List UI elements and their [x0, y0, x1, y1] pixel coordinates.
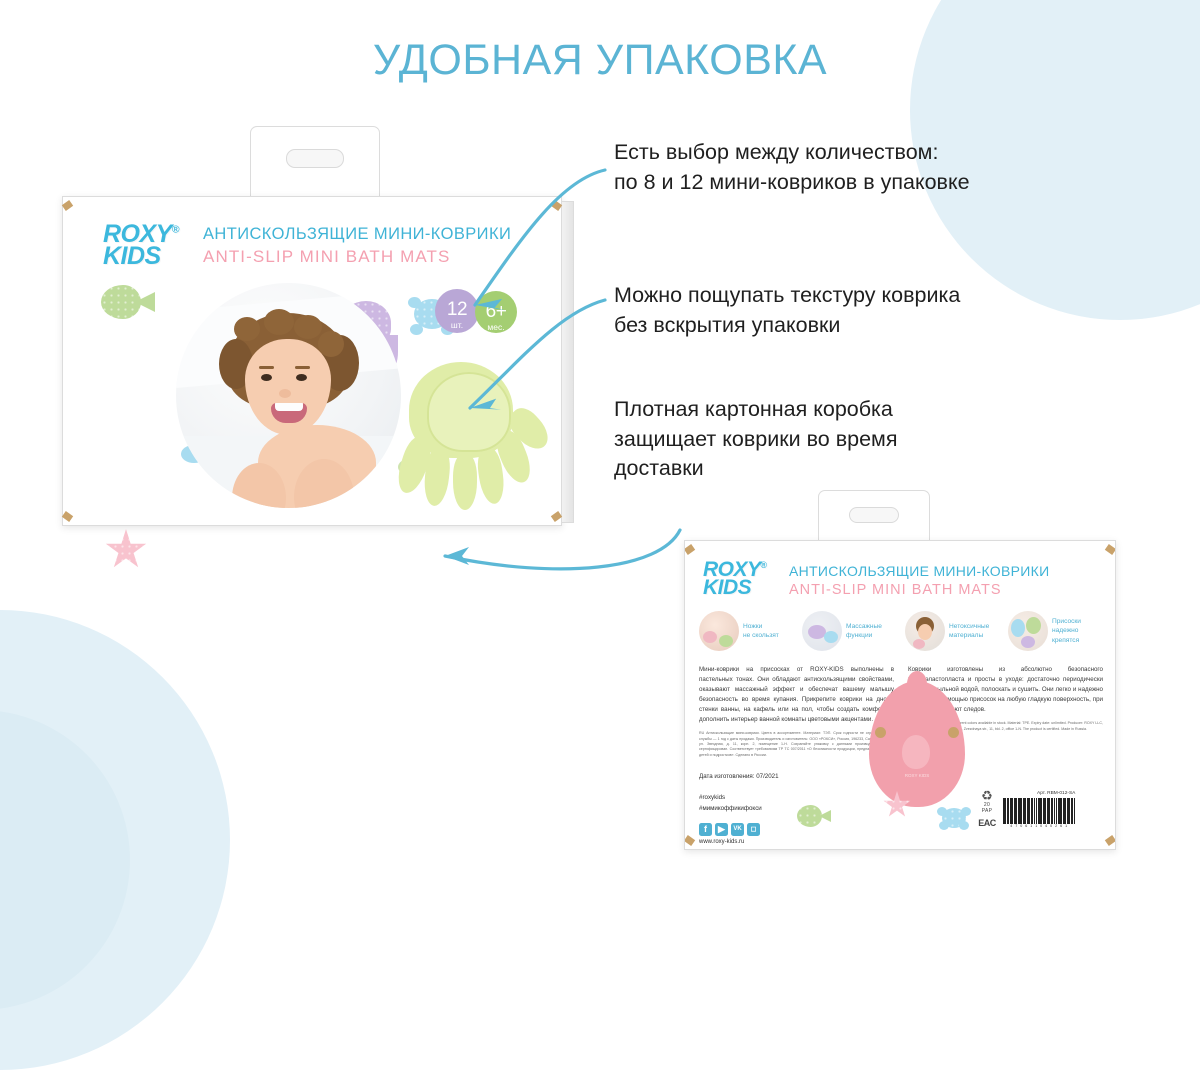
- benefit-1-line-2: по 8 и 12 мини-ковриков в упаковке: [614, 168, 970, 198]
- benefit-2-line-1: Можно пощупать текстуру коврика: [614, 281, 960, 311]
- eac-mark: EAC: [978, 818, 996, 828]
- badge-quantity: 12 шт.: [435, 289, 479, 333]
- feature-item-suction: Присоски надежно крепятся: [1008, 611, 1109, 651]
- barcode-digits: 4 7 0 6 1 1 0 4 0 2 6 1: [1003, 824, 1075, 828]
- feature-photo-mats: [1008, 611, 1048, 651]
- feature-list: Ножки не скользят Массажные функции Нето…: [699, 611, 1109, 651]
- benefit-3-line-3: доставки: [614, 454, 897, 484]
- compliance-marks: ♻ 20 PAP EAC Арт. RBM-012-SA 4 7 0 6 1 1…: [977, 789, 1075, 828]
- product-mat-teardrop-pink: ROXY KIDS: [869, 681, 965, 807]
- baby-eye-right: [296, 374, 307, 381]
- benefit-item-quantity: Есть выбор между количеством: по 8 и 12 …: [614, 138, 970, 197]
- baby-mouth: [271, 403, 307, 423]
- mat-fish-green: [101, 285, 155, 319]
- manufacture-date: Дата изготовления: 07/2021: [699, 773, 779, 780]
- hashtags: #roxykids #мимикоффикифокси: [699, 793, 762, 814]
- feature-4-line-1: Присоски: [1052, 617, 1081, 626]
- badge-age-value: 6+: [475, 291, 517, 321]
- feature-3-line-1: Нетоксичные: [949, 622, 989, 631]
- youtube-icon[interactable]: ▶: [715, 823, 728, 836]
- paragraph-left: Мини-коврики на присосках от ROXY-KIDS в…: [699, 665, 894, 725]
- benefit-3-line-1: Плотная картонная коробка: [614, 395, 897, 425]
- back-package: ROXY® KIDS АНТИСКОЛЬЗЯЩИЕ МИНИ-КОВРИКИ A…: [684, 540, 1116, 850]
- legal-text-ru: RU Антискользящие мини-коврики. Цвета в …: [699, 731, 894, 758]
- badge-quantity-unit: шт.: [435, 321, 479, 330]
- front-headline: АНТИСКОЛЬЗЯЩИЕ МИНИ-КОВРИКИ ANTI-SLIP MI…: [203, 225, 511, 267]
- benefit-item-box: Плотная картонная коробка защищает коври…: [614, 395, 897, 484]
- recycle-mark: ♻ 20 PAP EAC: [977, 789, 997, 828]
- baby-nose: [279, 389, 291, 398]
- feature-1-line-2: не скользят: [743, 631, 779, 640]
- back-description-left: Мини-коврики на присосках от ROXY-KIDS в…: [699, 665, 894, 758]
- instagram-icon[interactable]: ◻: [747, 823, 760, 836]
- feature-2-line-1: Массажные: [846, 622, 882, 631]
- front-brand-line-2: KIDS: [103, 245, 179, 267]
- product-mat-octopus-green: [401, 362, 553, 510]
- back-headline-en: ANTI-SLIP MINI BATH MATS: [789, 582, 1049, 598]
- badge-quantity-value: 12: [435, 289, 479, 319]
- vk-icon[interactable]: VK: [731, 823, 744, 836]
- feature-1-line-1: Ножки: [743, 622, 779, 631]
- back-staple-top-left: [684, 544, 695, 555]
- baby-eye-left: [261, 374, 272, 381]
- barcode-icon: [1003, 798, 1075, 824]
- back-brand-logo: ROXY® KIDS: [703, 561, 767, 598]
- recycle-triangle-icon: ♻: [977, 789, 997, 802]
- website-url: www.roxy-kids.ru: [699, 839, 744, 845]
- badge-age: 6+ мес.: [475, 291, 517, 333]
- back-staple-bottom-left: [684, 835, 695, 846]
- article-number: Арт. RBM-012-SA: [1003, 791, 1075, 796]
- benefit-3-line-2: защищает коврики во время: [614, 425, 897, 455]
- feature-3-line-2: материалы: [949, 631, 989, 640]
- barcode-block: Арт. RBM-012-SA 4 7 0 6 1 1 0 4 0 2 6 1: [1003, 791, 1075, 828]
- benefit-2-line-2: без вскрытия упаковки: [614, 311, 960, 341]
- front-headline-en: ANTI-SLIP MINI BATH MATS: [203, 247, 511, 267]
- hashtag-2: #мимикоффикифокси: [699, 804, 762, 815]
- feature-photo-baby: [905, 611, 945, 651]
- front-package-side-panel: [561, 201, 574, 523]
- front-package-hang-tab: [250, 126, 380, 198]
- baby-figure: [228, 313, 348, 441]
- staple-bottom-left: [62, 511, 73, 522]
- feature-4-line-3: крепятся: [1052, 636, 1081, 645]
- facebook-icon[interactable]: f: [699, 823, 712, 836]
- feature-2-line-2: функции: [846, 631, 882, 640]
- hashtag-1: #roxykids: [699, 793, 762, 804]
- mat-star-pink: [105, 529, 147, 571]
- social-links: f ▶ VK ◻: [699, 823, 760, 836]
- feature-item-nontoxic: Нетоксичные материалы: [905, 611, 1006, 651]
- feature-item-nonslip: Ножки не скользят: [699, 611, 800, 651]
- front-brand-logo: ROXY® KIDS: [103, 223, 179, 267]
- benefit-1-line-1: Есть выбор между количеством:: [614, 138, 970, 168]
- back-brand-line-2: KIDS: [703, 579, 767, 597]
- back-registered-trademark-icon: ®: [761, 560, 767, 570]
- feature-4-line-2: надежно: [1052, 626, 1081, 635]
- feature-photo-feet: [699, 611, 739, 651]
- recycle-label: PAP: [977, 808, 997, 814]
- front-package: ROXY® KIDS АНТИСКОЛЬЗЯЩИЕ МИНИ-КОВРИКИ A…: [62, 196, 562, 526]
- back-headline-ru: АНТИСКОЛЬЗЯЩИЕ МИНИ-КОВРИКИ: [789, 563, 1049, 579]
- baby-face: [245, 339, 331, 435]
- feature-photo-hand: [802, 611, 842, 651]
- staple-top-left: [62, 200, 73, 211]
- back-package-hang-tab: [818, 490, 930, 542]
- page-title: УДОБНАЯ УПАКОВКА: [0, 36, 1200, 85]
- badge-age-unit: мес.: [475, 323, 517, 332]
- back-headline: АНТИСКОЛЬЗЯЩИЕ МИНИ-КОВРИКИ ANTI-SLIP MI…: [789, 563, 1049, 598]
- baby-photo: [176, 283, 401, 508]
- back-package-side-panel: [1115, 545, 1116, 847]
- feature-item-massage: Массажные функции: [802, 611, 903, 651]
- benefit-item-texture: Можно пощупать текстуру коврика без вскр…: [614, 281, 960, 340]
- back-mat-turtle-blue: [937, 805, 971, 831]
- front-headline-ru: АНТИСКОЛЬЗЯЩИЕ МИНИ-КОВРИКИ: [203, 225, 511, 244]
- back-mat-fish-green: [797, 805, 831, 827]
- registered-trademark-icon: ®: [172, 224, 179, 236]
- mat-embossed-text: ROXY KIDS: [891, 773, 943, 780]
